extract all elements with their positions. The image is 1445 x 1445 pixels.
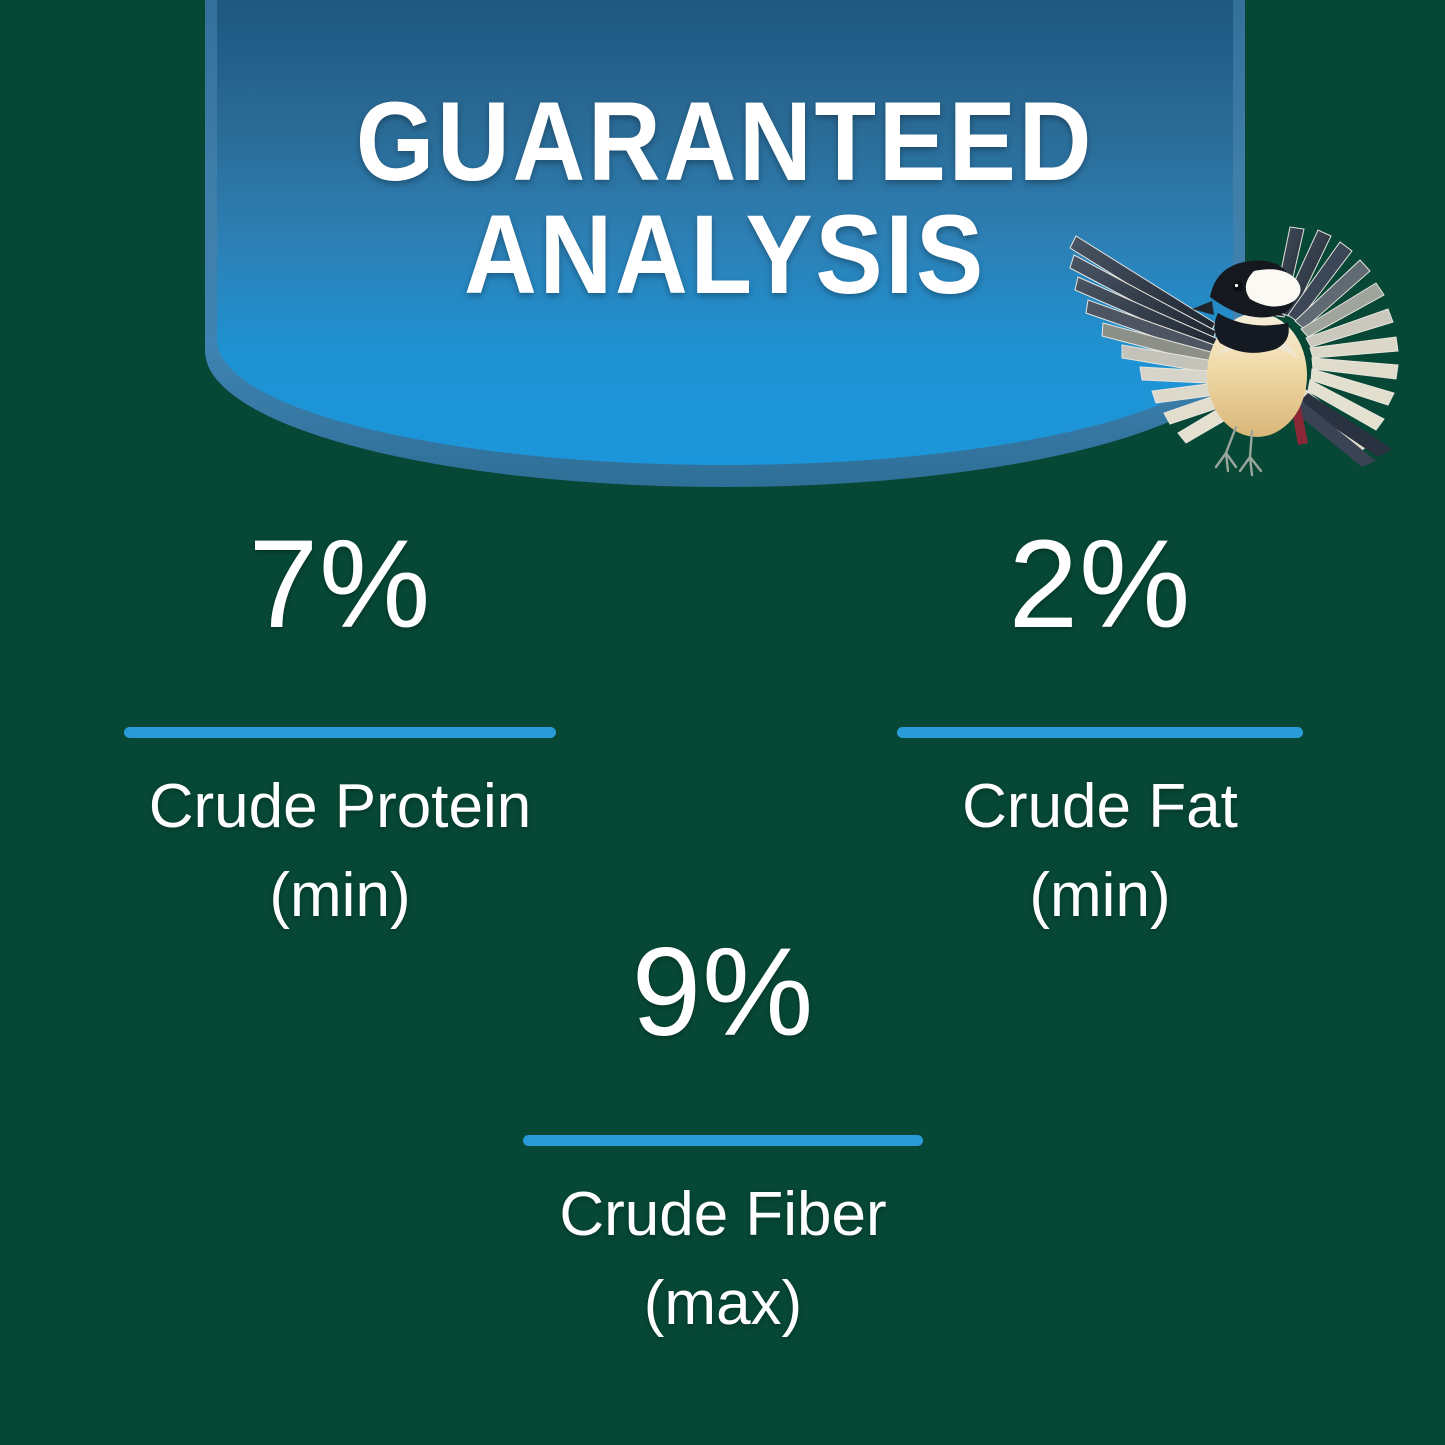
- nutrient-crude-protein: 7% Crude Protein (min): [60, 522, 620, 931]
- nutrient-value: 2%: [820, 522, 1380, 647]
- bird-right-wing: [1272, 227, 1398, 452]
- nutrient-label: Crude Fat: [820, 772, 1380, 841]
- header-banner: GUARANTEED ANALYSIS: [205, 0, 1245, 487]
- banner-inner-fill: [217, 0, 1233, 465]
- nutrient-crude-fat: 2% Crude Fat (min): [820, 522, 1380, 931]
- nutrient-qualifier: (max): [443, 1269, 1003, 1338]
- nutrient-crude-fiber: 9% Crude Fiber (max): [443, 930, 1003, 1339]
- nutrient-divider: [523, 1135, 923, 1146]
- nutrient-qualifier: (min): [60, 861, 620, 930]
- nutrient-value: 9%: [443, 930, 1003, 1055]
- nutrient-qualifier: (min): [820, 861, 1380, 930]
- bird-tail: [1292, 393, 1392, 467]
- nutrient-label: Crude Protein: [60, 772, 620, 841]
- nutrient-label: Crude Fiber: [443, 1180, 1003, 1249]
- nutrient-divider: [124, 727, 556, 738]
- nutrient-value: 7%: [60, 522, 620, 647]
- nutrient-divider: [897, 727, 1303, 738]
- bird-tail-streak: [1286, 373, 1308, 445]
- guaranteed-analysis-panel: GUARANTEED ANALYSIS: [0, 0, 1445, 1445]
- bird-cheek: [1246, 269, 1301, 306]
